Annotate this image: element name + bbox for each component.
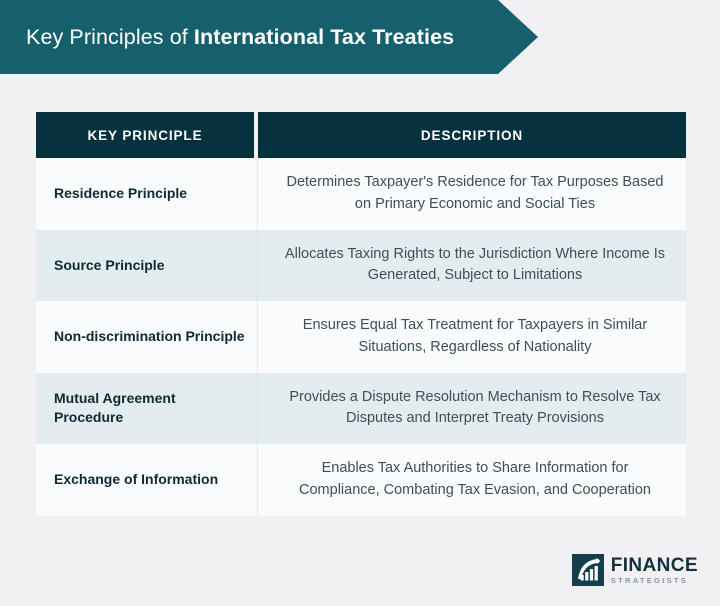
cell-principle: Residence Principle: [36, 158, 258, 230]
page-title: Key Principles of International Tax Trea…: [0, 25, 454, 50]
cell-description: Determines Taxpayer's Residence for Tax …: [258, 158, 686, 230]
column-header-description: DESCRIPTION: [258, 112, 686, 158]
table-row: Non-discrimination Principle Ensures Equ…: [36, 301, 686, 373]
page-title-regular: Key Principles of: [26, 25, 194, 49]
cell-description: Allocates Taxing Rights to the Jurisdict…: [258, 230, 686, 302]
brand-logo: FINANCE STRATEGISTS: [572, 554, 698, 586]
logo-subtitle: STRATEGISTS: [611, 577, 698, 585]
table-row: Source Principle Allocates Taxing Rights…: [36, 230, 686, 302]
finance-strategists-chart-icon: [572, 554, 604, 586]
table-header-row: KEY PRINCIPLE DESCRIPTION: [36, 112, 686, 158]
table-head: KEY PRINCIPLE DESCRIPTION: [36, 112, 686, 158]
column-header-key-principle: KEY PRINCIPLE: [36, 112, 258, 158]
header-banner: Key Principles of International Tax Trea…: [0, 0, 540, 74]
table-body: Residence Principle Determines Taxpayer'…: [36, 158, 686, 516]
table-row: Mutual Agreement Procedure Provides a Di…: [36, 373, 686, 445]
cell-principle: Exchange of Information: [36, 444, 258, 516]
table-row: Residence Principle Determines Taxpayer'…: [36, 158, 686, 230]
cell-principle: Non-discrimination Principle: [36, 301, 258, 373]
cell-description: Enables Tax Authorities to Share Informa…: [258, 444, 686, 516]
cell-description: Provides a Dispute Resolution Mechanism …: [258, 373, 686, 445]
banner-shape: Key Principles of International Tax Trea…: [0, 0, 540, 74]
page-title-bold: International Tax Treaties: [194, 25, 454, 49]
cell-principle: Mutual Agreement Procedure: [36, 373, 258, 445]
cell-description: Ensures Equal Tax Treatment for Taxpayer…: [258, 301, 686, 373]
cell-principle: Source Principle: [36, 230, 258, 302]
logo-wordmark: FINANCE STRATEGISTS: [611, 556, 698, 585]
principles-table: KEY PRINCIPLE DESCRIPTION Residence Prin…: [36, 112, 686, 516]
logo-name: FINANCE: [611, 556, 698, 575]
table-row: Exchange of Information Enables Tax Auth…: [36, 444, 686, 516]
